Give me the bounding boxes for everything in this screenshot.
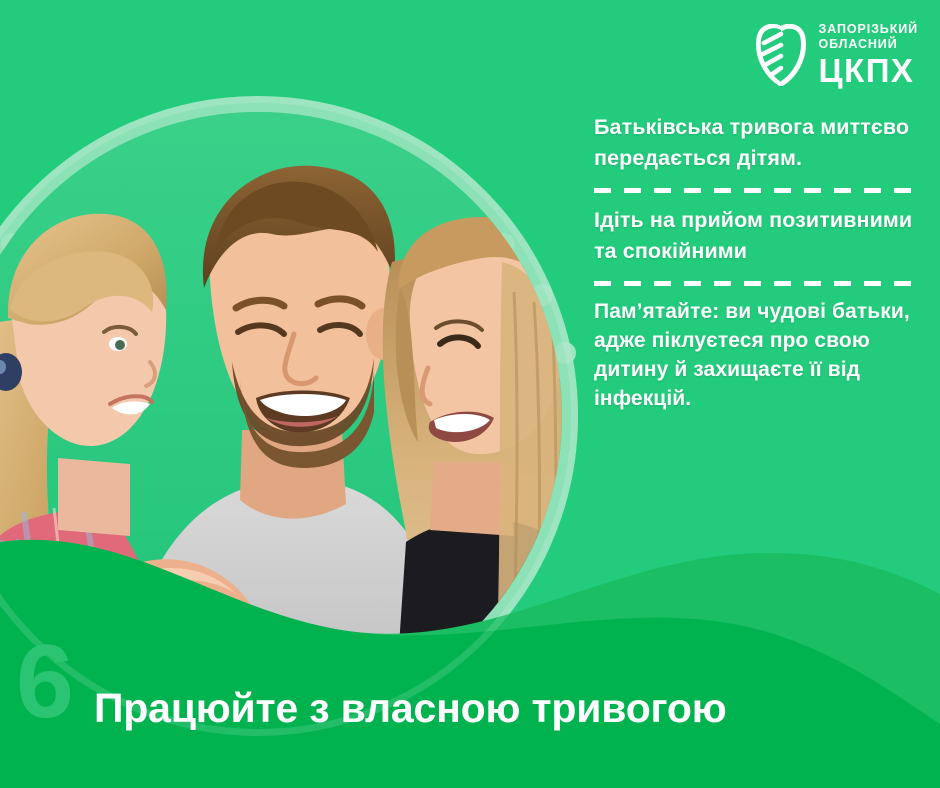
shield-heart-icon bbox=[755, 24, 807, 86]
logo-text-block: ЗАПОРІЗЬКИЙ ОБЛАСНИЙ ЦКПХ bbox=[818, 22, 918, 87]
copy-column: Батьківська тривога миттєво передається … bbox=[594, 112, 924, 414]
logo-line-2: ОБЛАСНИЙ bbox=[818, 37, 918, 52]
step-number: 6 bbox=[16, 630, 72, 734]
dashed-divider-1 bbox=[594, 179, 924, 201]
dashed-divider-2 bbox=[594, 272, 924, 294]
organization-logo: ЗАПОРІЗЬКИЙ ОБЛАСНИЙ ЦКПХ bbox=[755, 22, 918, 87]
copy-paragraph-1: Батьківська тривога миттєво передається … bbox=[594, 112, 924, 173]
copy-paragraph-2: Ідіть на прийом позитивними та спокійним… bbox=[594, 205, 924, 266]
poster-canvas: 6 ЗАПОРІЗЬКИЙ ОБЛАСНИЙ ЦКПХ Батьківська … bbox=[0, 0, 940, 788]
logo-line-1: ЗАПОРІЗЬКИЙ bbox=[818, 22, 918, 37]
copy-paragraph-3: Пам’ятайте: ви чудові батьки, адже піклу… bbox=[594, 298, 924, 414]
logo-abbreviation: ЦКПХ bbox=[818, 54, 918, 88]
headline: Працюйте з власною тривогою bbox=[94, 685, 727, 732]
